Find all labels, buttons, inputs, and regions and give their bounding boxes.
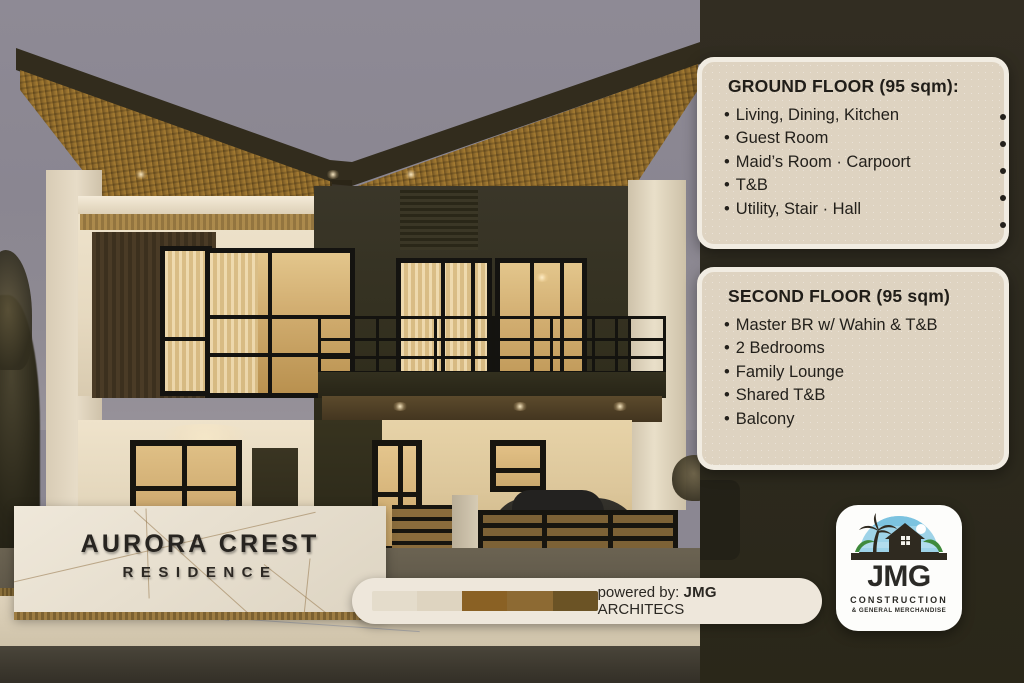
downlight-icon xyxy=(512,402,528,411)
logo-wordmark: JMG xyxy=(867,562,931,592)
second-floor-list: Master BR w/ Wahin & T&B 2 Bedrooms Fami… xyxy=(724,314,1004,431)
ground-floor-card: GROUND FLOOR (95 sqm): Living, Dining, K… xyxy=(697,57,1009,249)
signage-base-trim xyxy=(14,612,386,620)
swatch-4 xyxy=(507,591,552,611)
second-floor-card: SECOND FLOOR (95 sqm) Master BR w/ Wahin… xyxy=(697,267,1009,470)
list-item: Maid’s Room · Carpoort xyxy=(724,151,1004,174)
logo-line1: CONSTRUCTION xyxy=(850,595,948,605)
list-item: T&B xyxy=(724,174,1004,197)
balcony-railing xyxy=(318,316,618,374)
list-item: 2 Bedrooms xyxy=(724,337,1004,360)
powered-by-prefix: powered by: xyxy=(598,584,680,601)
window-ground-square xyxy=(490,440,546,492)
house-palm-sun-emblem xyxy=(851,512,947,560)
jmg-logo: JMG CONSTRUCTION & GENERAL MERCHANDISE xyxy=(836,505,962,631)
poster: AURORA CREST RESIDENCE GROUND FLOOR (95 … xyxy=(0,0,1024,683)
powered-by-suffix: ARCHITECS xyxy=(598,601,685,618)
color-swatch-strip xyxy=(372,591,598,611)
list-item: Family Lounge xyxy=(724,361,1004,384)
logo-line2: & GENERAL MERCHANDISE xyxy=(852,607,947,614)
ground-floor-heading: GROUND FLOOR (95 sqm): xyxy=(728,76,1004,97)
powered-by-brand: JMG xyxy=(683,584,716,601)
signage-wall: AURORA CREST RESIDENCE xyxy=(14,506,386,618)
list-item: Shared T&B xyxy=(724,384,1004,407)
list-item: Utility, Stair · Hall xyxy=(724,198,1004,221)
downlight-icon xyxy=(326,170,340,179)
list-item: Master BR w/ Wahin & T&B xyxy=(724,314,1004,337)
swatch-1 xyxy=(372,591,417,611)
second-floor-heading: SECOND FLOOR (95 sqm) xyxy=(728,286,1004,307)
swatch-3 xyxy=(462,591,507,611)
balcony-slab xyxy=(318,372,666,398)
list-item: Guest Room xyxy=(724,127,1004,150)
swatch-2 xyxy=(417,591,462,611)
wood-soffit-trim xyxy=(80,214,314,230)
downlight-icon xyxy=(404,170,418,179)
list-item: Balcony xyxy=(724,408,1004,431)
clipped-bullet-column xyxy=(998,114,1006,244)
list-item: Living, Dining, Kitchen xyxy=(724,104,1004,127)
wall-trim-band xyxy=(78,196,314,214)
powered-by-bar: powered by: JMG ARCHITECS xyxy=(352,578,822,624)
car-roof xyxy=(512,490,604,512)
powered-by-text: powered by: JMG ARCHITECS xyxy=(598,584,796,618)
downlight-icon xyxy=(612,402,628,411)
swatch-5 xyxy=(553,591,598,611)
balcony-railing-return xyxy=(592,316,666,374)
louver-vent xyxy=(400,190,478,250)
downlight-icon xyxy=(134,170,148,179)
panel-notch xyxy=(700,480,740,560)
downlight-icon xyxy=(392,402,408,411)
sign-subtitle: RESIDENCE xyxy=(14,564,386,581)
ground-floor-list: Living, Dining, Kitchen Guest Room Maid’… xyxy=(724,104,1004,221)
street-asphalt xyxy=(0,646,716,683)
sign-title: AURORA CREST xyxy=(14,530,386,559)
downlight-icon xyxy=(534,273,550,282)
balcony-soffit xyxy=(322,396,662,422)
